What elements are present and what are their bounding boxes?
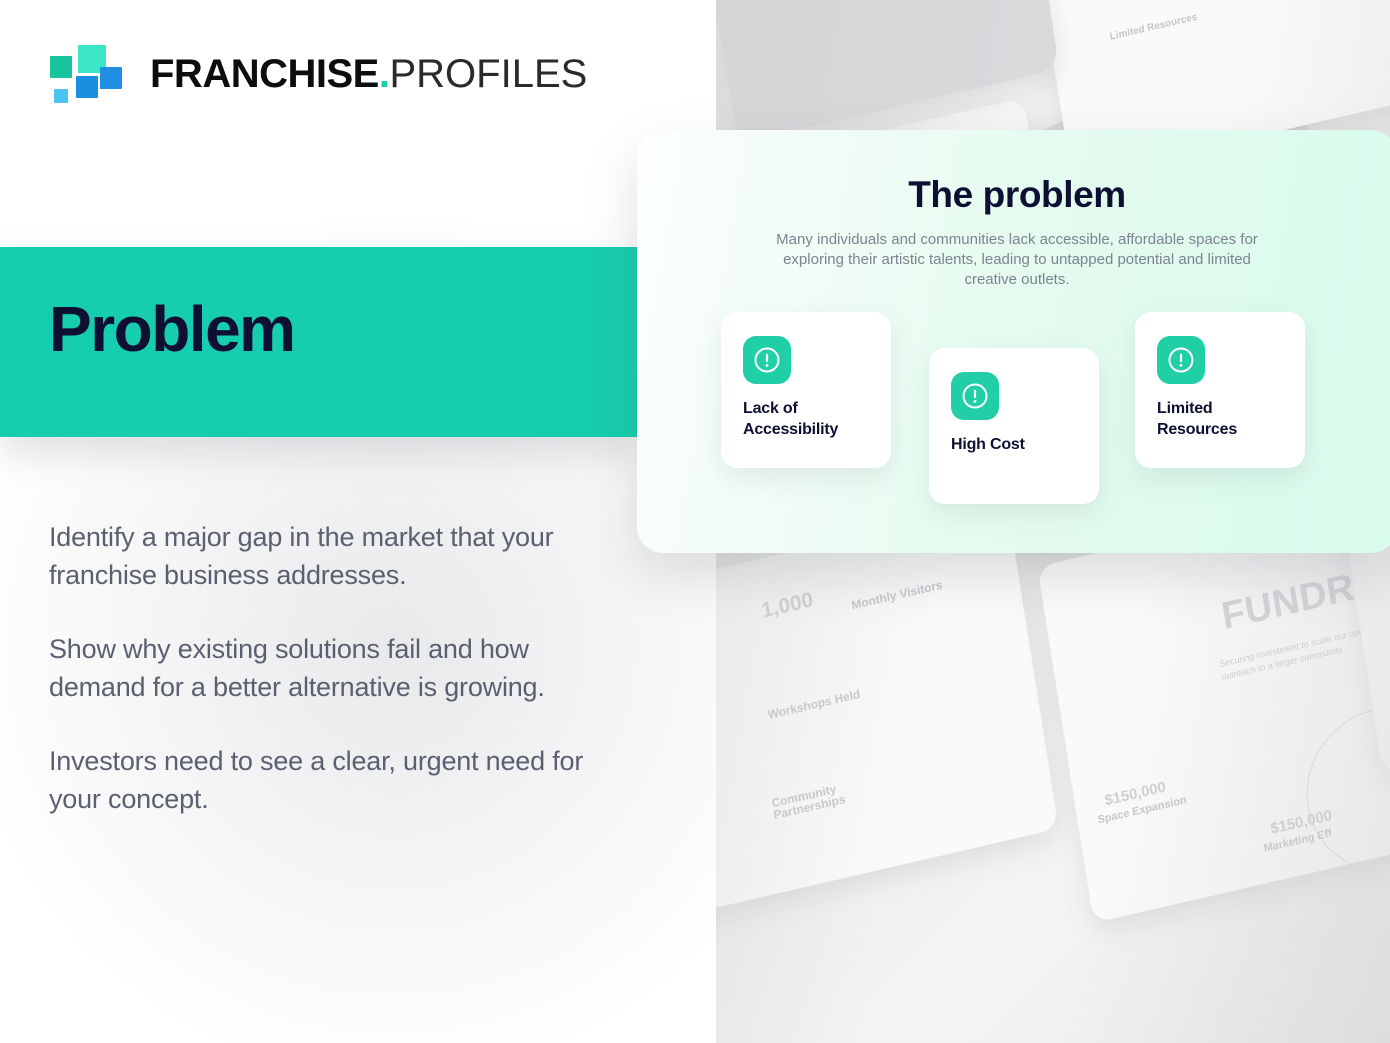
preview-item-label: Lack of Accessibility xyxy=(743,398,883,440)
collage-stat-label: Workshops Held xyxy=(767,688,861,721)
preview-subtitle: Many individuals and communities lack ac… xyxy=(764,230,1270,290)
page-title: Problem xyxy=(49,297,295,361)
preview-item-label: Limited Resources xyxy=(1157,398,1297,440)
section-banner: Problem xyxy=(0,247,637,437)
brand-name-dot: . xyxy=(379,52,390,96)
brand-name-bold: FRANCHISE xyxy=(150,52,379,96)
brand-wordmark: FRANCHISE.PROFILES xyxy=(128,54,587,94)
preview-item-card[interactable]: High Cost xyxy=(929,348,1099,504)
body-copy: Identify a major gap in the market that … xyxy=(49,518,624,818)
slide-canvas: $ Drop-In Fees Session Workshops Commiss… xyxy=(0,0,1390,1043)
logo-mark-icon xyxy=(48,45,106,103)
collage-stat-label: Monthly Visitors xyxy=(851,579,944,612)
preview-item-card[interactable]: Limited Resources xyxy=(1135,312,1305,468)
collage-slide-traction: 1,000 Monthly Visitors 75 Workshops Held… xyxy=(715,502,1059,923)
body-paragraph: Investors need to see a clear, urgent ne… xyxy=(49,742,624,818)
slide-preview-card[interactable]: The problem Many individuals and communi… xyxy=(637,130,1390,553)
alert-circle-icon xyxy=(743,336,791,384)
preview-items: Lack of Accessibility High Cost xyxy=(721,312,1321,512)
preview-item-label: High Cost xyxy=(951,434,1091,455)
body-paragraph: Show why existing solutions fail and how… xyxy=(49,630,624,706)
body-paragraph: Identify a major gap in the market that … xyxy=(49,518,624,594)
preview-title: The problem xyxy=(637,174,1390,216)
left-content-column: FRANCHISE.PROFILES Problem Identify a ma… xyxy=(0,0,716,1043)
collage-stat-value: 1,000 xyxy=(760,588,815,624)
preview-item-card[interactable]: Lack of Accessibility xyxy=(721,312,891,468)
collage-stat-label: Community Partnerships xyxy=(771,775,872,821)
alert-circle-icon xyxy=(951,372,999,420)
brand-logo: FRANCHISE.PROFILES xyxy=(48,45,587,103)
alert-circle-icon xyxy=(1157,336,1205,384)
brand-name-thin: PROFILES xyxy=(389,52,587,96)
collage-label: Limited Resources xyxy=(1109,7,1218,44)
